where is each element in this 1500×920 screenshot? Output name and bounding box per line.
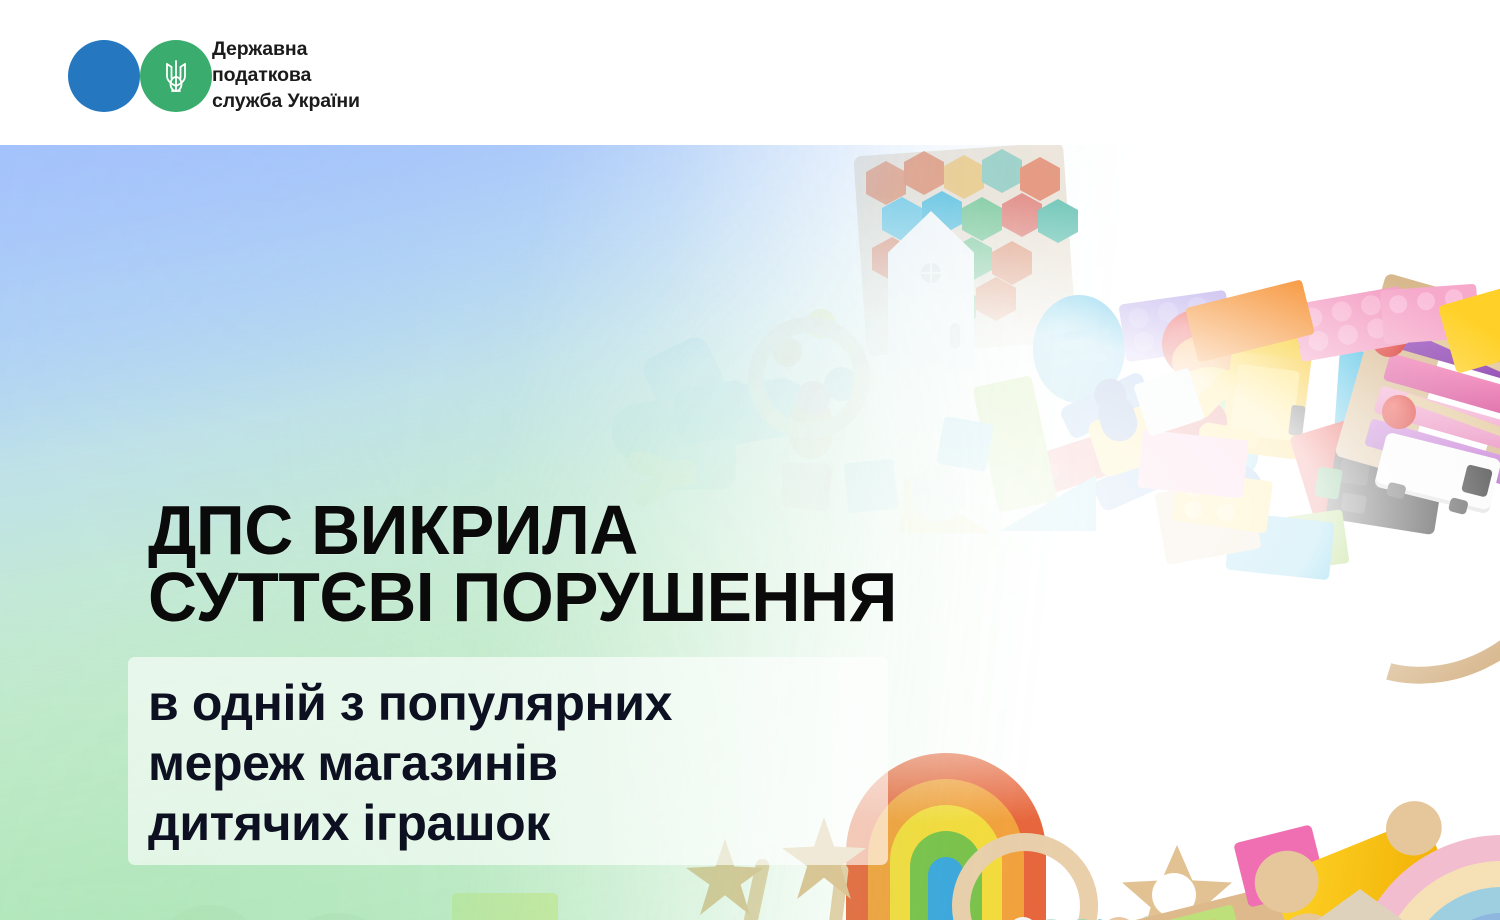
wooden-ring-toy (748, 317, 870, 439)
faded-yellow-block (452, 893, 558, 920)
subtitle-line-2: мереж магазинів (148, 733, 672, 793)
faded-circle-block (278, 913, 398, 920)
wooden-house-block (1296, 889, 1424, 920)
white-wooden-house (888, 211, 974, 371)
headline-line-1: ДПС ВИКРИЛА (148, 497, 897, 564)
pink-slab-block (1137, 430, 1248, 499)
faded-oval-block (160, 905, 258, 920)
organization-name: Державна податкова служба України (212, 37, 360, 115)
headline-line-2: СУТТЄВІ ПОРУШЕННЯ (148, 564, 897, 631)
logo-text-line-3: служба України (212, 89, 360, 115)
subtitle-line-3: дитячих іграшок (148, 793, 672, 853)
page-title: ДПС ВИКРИЛА СУТТЄВІ ПОРУШЕННЯ (148, 497, 897, 631)
header-bar: Державна податкова служба України (0, 0, 1500, 145)
logo-text-line-1: Державна (212, 37, 360, 63)
poster: ДПС ВИКРИЛА СУТТЄВІ ПОРУШЕННЯ в одній з … (0, 0, 1500, 920)
xylophone-mallet-head-2 (1382, 395, 1416, 429)
logo-mark (68, 40, 198, 112)
logo-circle-green-icon (140, 40, 212, 112)
logo-text-line-2: податкова (212, 63, 360, 89)
blue-square-block-2 (936, 416, 994, 472)
subtitle-line-1: в одній з популярних (148, 673, 672, 733)
logo-circle-blue-icon (68, 40, 140, 112)
ukraine-trident-icon (161, 56, 191, 96)
organization-logo: Державна податкова служба України (68, 37, 360, 115)
page-subtitle: в одній з популярних мереж магазинів дит… (148, 673, 672, 853)
photo-canvas: ДПС ВИКРИЛА СУТТЄВІ ПОРУШЕННЯ в одній з … (0, 145, 1500, 920)
